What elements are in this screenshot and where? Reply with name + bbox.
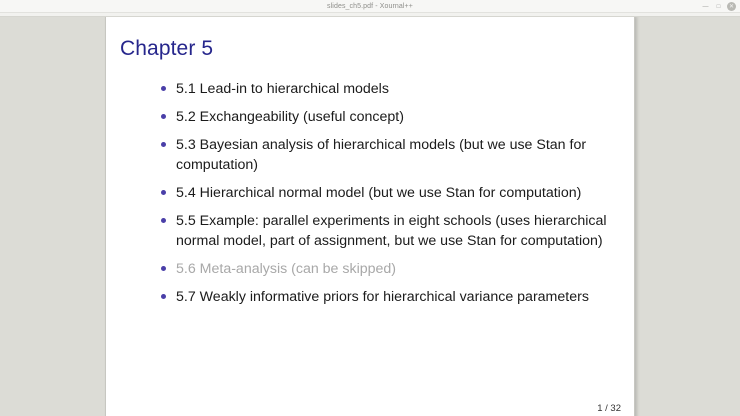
close-button[interactable]: ✕: [727, 2, 736, 11]
window-title: slides_ch5.pdf - Xournal++: [0, 0, 740, 13]
list-item-label: 5.6 Meta-analysis (can be skipped): [176, 259, 615, 279]
close-icon: ✕: [729, 4, 734, 10]
list-item-label: 5.2 Exchangeability (useful concept): [176, 107, 615, 127]
maximize-icon: □: [717, 4, 721, 10]
list-item: 5.5 Example: parallel experiments in eig…: [157, 211, 615, 251]
list-item: 5.2 Exchangeability (useful concept): [157, 107, 615, 127]
list-item: 5.4 Hierarchical normal model (but we us…: [157, 183, 615, 203]
bullet-dot-icon: [161, 266, 166, 271]
list-item: 5.3 Bayesian analysis of hierarchical mo…: [157, 135, 615, 175]
list-item-label: 5.4 Hierarchical normal model (but we us…: [176, 183, 615, 203]
bullet-list: 5.1 Lead-in to hierarchical models 5.2 E…: [157, 79, 615, 315]
list-item-label: 5.5 Example: parallel experiments in eig…: [176, 211, 615, 251]
maximize-button[interactable]: □: [714, 2, 723, 11]
pdf-canvas-area[interactable]: Chapter 5 5.1 Lead-in to hierarchical mo…: [0, 17, 740, 416]
list-item: 5.7 Weakly informative priors for hierar…: [157, 287, 615, 307]
bullet-dot-icon: [161, 142, 166, 147]
minimize-icon: —: [703, 4, 709, 10]
bullet-dot-icon: [161, 218, 166, 223]
list-item-label: 5.3 Bayesian analysis of hierarchical mo…: [176, 135, 615, 175]
window-titlebar: slides_ch5.pdf - Xournal++ — □ ✕: [0, 0, 740, 13]
bullet-dot-icon: [161, 294, 166, 299]
list-item-label: 5.7 Weakly informative priors for hierar…: [176, 287, 615, 307]
page-number-indicator: 1 / 32: [597, 403, 621, 414]
bullet-dot-icon: [161, 114, 166, 119]
page-title: Chapter 5: [120, 37, 213, 61]
bullet-dot-icon: [161, 86, 166, 91]
minimize-button[interactable]: —: [701, 2, 710, 11]
window-controls: — □ ✕: [701, 0, 736, 13]
list-item-label: 5.1 Lead-in to hierarchical models: [176, 79, 615, 99]
list-item: 5.1 Lead-in to hierarchical models: [157, 79, 615, 99]
pdf-page[interactable]: Chapter 5 5.1 Lead-in to hierarchical mo…: [105, 17, 635, 416]
application-window: slides_ch5.pdf - Xournal++ — □ ✕ Chapter…: [0, 0, 740, 416]
bullet-dot-icon: [161, 190, 166, 195]
list-item: 5.6 Meta-analysis (can be skipped): [157, 259, 615, 279]
